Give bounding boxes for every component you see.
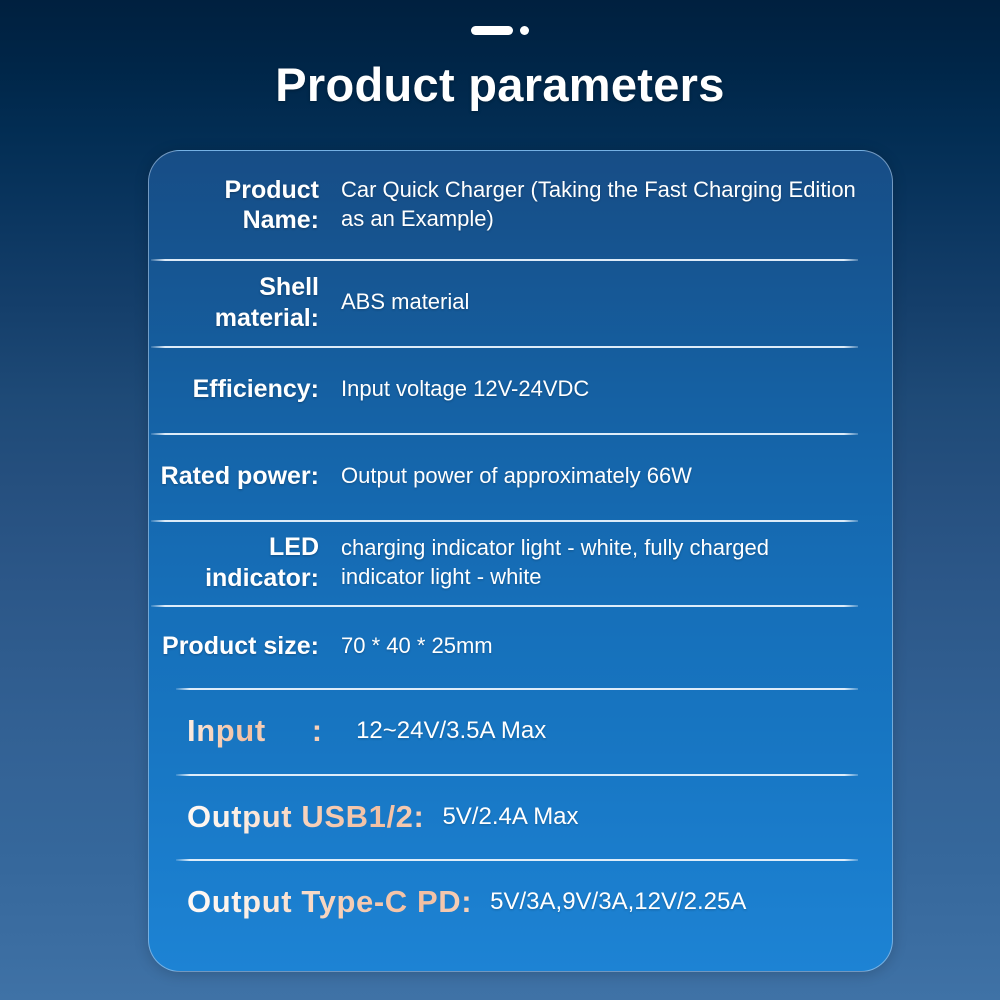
row-label-output-typec: Output Type-C PD: [149, 883, 472, 921]
row-value-rated-power: Output power of approximately 66W [341, 462, 892, 491]
table-row: Shell material: ABS material [149, 259, 892, 346]
table-row: Product size: 70 * 40 * 25mm [149, 605, 892, 688]
row-label-output-usb: Output USB1/2: [149, 798, 424, 836]
row-label-led-indicator: LED indicator: [149, 532, 341, 593]
table-row: Output Type-C PD: 5V/3A,9V/3A,12V/2.25A [149, 859, 892, 944]
row-value-input: 12~24V/3.5A Max [322, 715, 892, 746]
row-value-product-name: Car Quick Charger (Taking the Fast Charg… [341, 176, 892, 233]
table-row: Rated power: Output power of approximate… [149, 433, 892, 520]
row-separator-input: : [266, 713, 322, 749]
row-label-shell-material: Shell material: [149, 272, 341, 333]
product-parameters-card: Product Name: Car Quick Charger (Taking … [148, 150, 893, 972]
table-row: Product Name: Car Quick Charger (Taking … [149, 151, 892, 259]
row-value-product-size: 70 * 40 * 25mm [341, 632, 892, 661]
row-label-efficiency: Efficiency: [149, 374, 341, 405]
row-value-output-usb: 5V/2.4A Max [424, 801, 892, 832]
pagination-active-bar[interactable] [471, 26, 513, 35]
carousel-pagination[interactable] [0, 26, 1000, 35]
page-title: Product parameters [0, 57, 1000, 112]
row-value-output-typec: 5V/3A,9V/3A,12V/2.25A [472, 886, 892, 917]
table-row: Output USB1/2: 5V/2.4A Max [149, 774, 892, 859]
row-value-shell-material: ABS material [341, 288, 892, 317]
row-value-efficiency: Input voltage 12V-24VDC [341, 375, 892, 404]
row-label-product-size: Product size: [149, 631, 341, 662]
table-row: Efficiency: Input voltage 12V-24VDC [149, 346, 892, 433]
table-row: Input : 12~24V/3.5A Max [149, 688, 892, 774]
pagination-dot[interactable] [520, 26, 529, 35]
row-value-led-indicator: charging indicator light - white, fully … [341, 534, 892, 591]
row-label-product-name: Product Name: [149, 175, 341, 236]
row-label-input: Input [149, 712, 266, 750]
table-row: LED indicator: charging indicator light … [149, 520, 892, 605]
row-label-rated-power: Rated power: [149, 461, 341, 492]
